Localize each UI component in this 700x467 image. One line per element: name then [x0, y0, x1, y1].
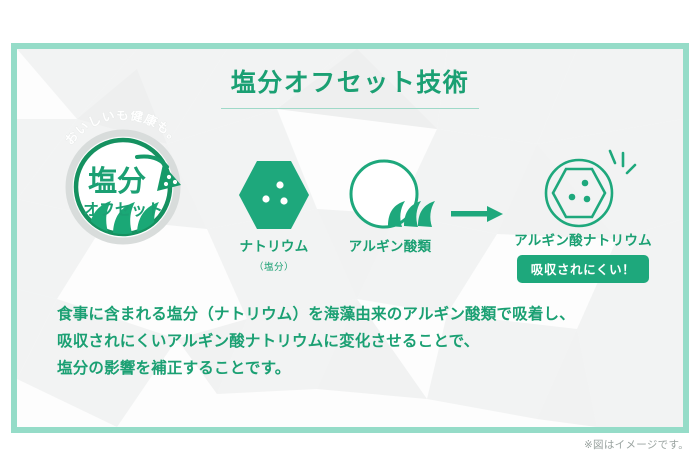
- step-sodium: ナトリウム （塩分）: [224, 155, 324, 273]
- description-paragraph: 食事に含まれる塩分（ナトリウム）を海藻由来のアルギン酸類で吸着し、 吸収されにく…: [57, 301, 657, 382]
- circle-seaweed-icon: [333, 155, 447, 235]
- status-badge: 吸収されにくい！: [517, 255, 650, 283]
- description-line-1: 食事に含まれる塩分（ナトリウム）を海藻由来のアルギン酸類で吸着し、: [57, 301, 657, 328]
- logo-line1: 塩分: [88, 165, 146, 198]
- result-label: アルギン酸ナトリウム: [483, 229, 683, 249]
- salt-offset-logo: 塩分 オフセット おいしいも健康も。: [45, 111, 205, 246]
- sodium-label: ナトリウム: [224, 235, 324, 255]
- step-alginic: アルギン酸類: [333, 155, 447, 255]
- alginic-label: アルギン酸類: [333, 235, 447, 255]
- infographic-canvas: 塩分オフセット技術: [0, 0, 700, 467]
- page-title: 塩分オフセット技術: [221, 63, 480, 109]
- step-result: アルギン酸ナトリウム 吸収されにくい！: [483, 149, 683, 283]
- sparkle-lines-icon: [610, 151, 635, 173]
- mint-border-frame: 塩分オフセット技術: [11, 43, 689, 433]
- logo-line2: オフセット: [83, 201, 163, 219]
- description-line-2: 吸収されにくいアルギン酸ナトリウムに変化させることで、: [57, 328, 657, 355]
- title-container: 塩分オフセット技術: [17, 63, 683, 109]
- sodium-sublabel: （塩分）: [224, 259, 324, 273]
- hexagon-filled-icon: [224, 155, 324, 235]
- description-line-3: 塩分の影響を補正することです。: [57, 355, 657, 382]
- circle-hexagon-sparkle-icon: [483, 149, 683, 229]
- footnote: ※図はイメージです。: [584, 437, 689, 452]
